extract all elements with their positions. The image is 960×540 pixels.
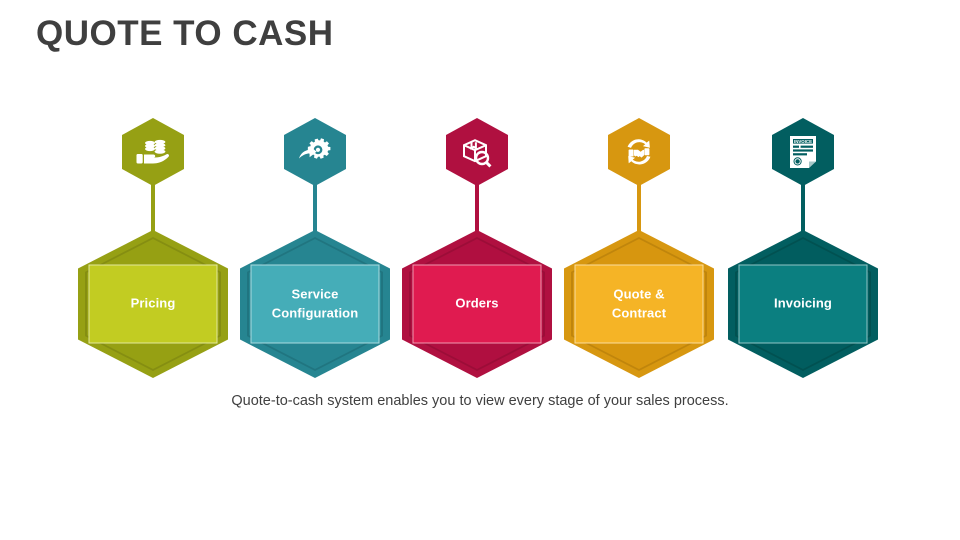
- handshake-cycle-icon: [608, 118, 670, 186]
- stage-hexagon[interactable]: Pricing: [78, 230, 228, 378]
- stage-label-plate: Service Configuration: [251, 265, 380, 344]
- slide-caption: Quote-to-cash system enables you to view…: [0, 393, 960, 409]
- hand-holding-coins-icon: [122, 118, 184, 186]
- slide-canvas: QUOTE TO CASH: [0, 0, 960, 540]
- invoice-document-icon: INVOICE: [772, 118, 834, 186]
- stage-label: Orders: [455, 295, 498, 313]
- page-title: QUOTE TO CASH: [36, 14, 334, 54]
- stage-service-configuration[interactable]: Service Configuration: [232, 118, 398, 378]
- stage-label: Invoicing: [774, 295, 832, 313]
- gear-arrow-icon: [284, 118, 346, 186]
- stage-quote-contract[interactable]: Quote & Contract: [556, 118, 722, 378]
- stage-label-plate: Pricing: [89, 265, 218, 344]
- stage-pricing[interactable]: Pricing: [70, 118, 236, 378]
- stage-hexagon[interactable]: Quote & Contract: [564, 230, 714, 378]
- stage-label: Quote & Contract: [612, 286, 666, 323]
- process-flow-diagram: Pricing Service Configuration: [0, 118, 960, 378]
- svg-text:INVOICE: INVOICE: [794, 139, 812, 144]
- stage-orders[interactable]: Orders: [394, 118, 560, 378]
- stage-label: Pricing: [131, 295, 176, 313]
- stage-label-plate: Invoicing: [739, 265, 868, 344]
- stage-label: Service Configuration: [272, 286, 359, 323]
- stage-invoicing[interactable]: INVOICE Invoicing: [720, 118, 886, 378]
- stage-label-plate: Quote & Contract: [575, 265, 704, 344]
- stage-label-plate: Orders: [413, 265, 542, 344]
- stage-hexagon[interactable]: Invoicing: [728, 230, 878, 378]
- stage-hexagon[interactable]: Orders: [402, 230, 552, 378]
- package-search-icon: [446, 118, 508, 186]
- stage-hexagon[interactable]: Service Configuration: [240, 230, 390, 378]
